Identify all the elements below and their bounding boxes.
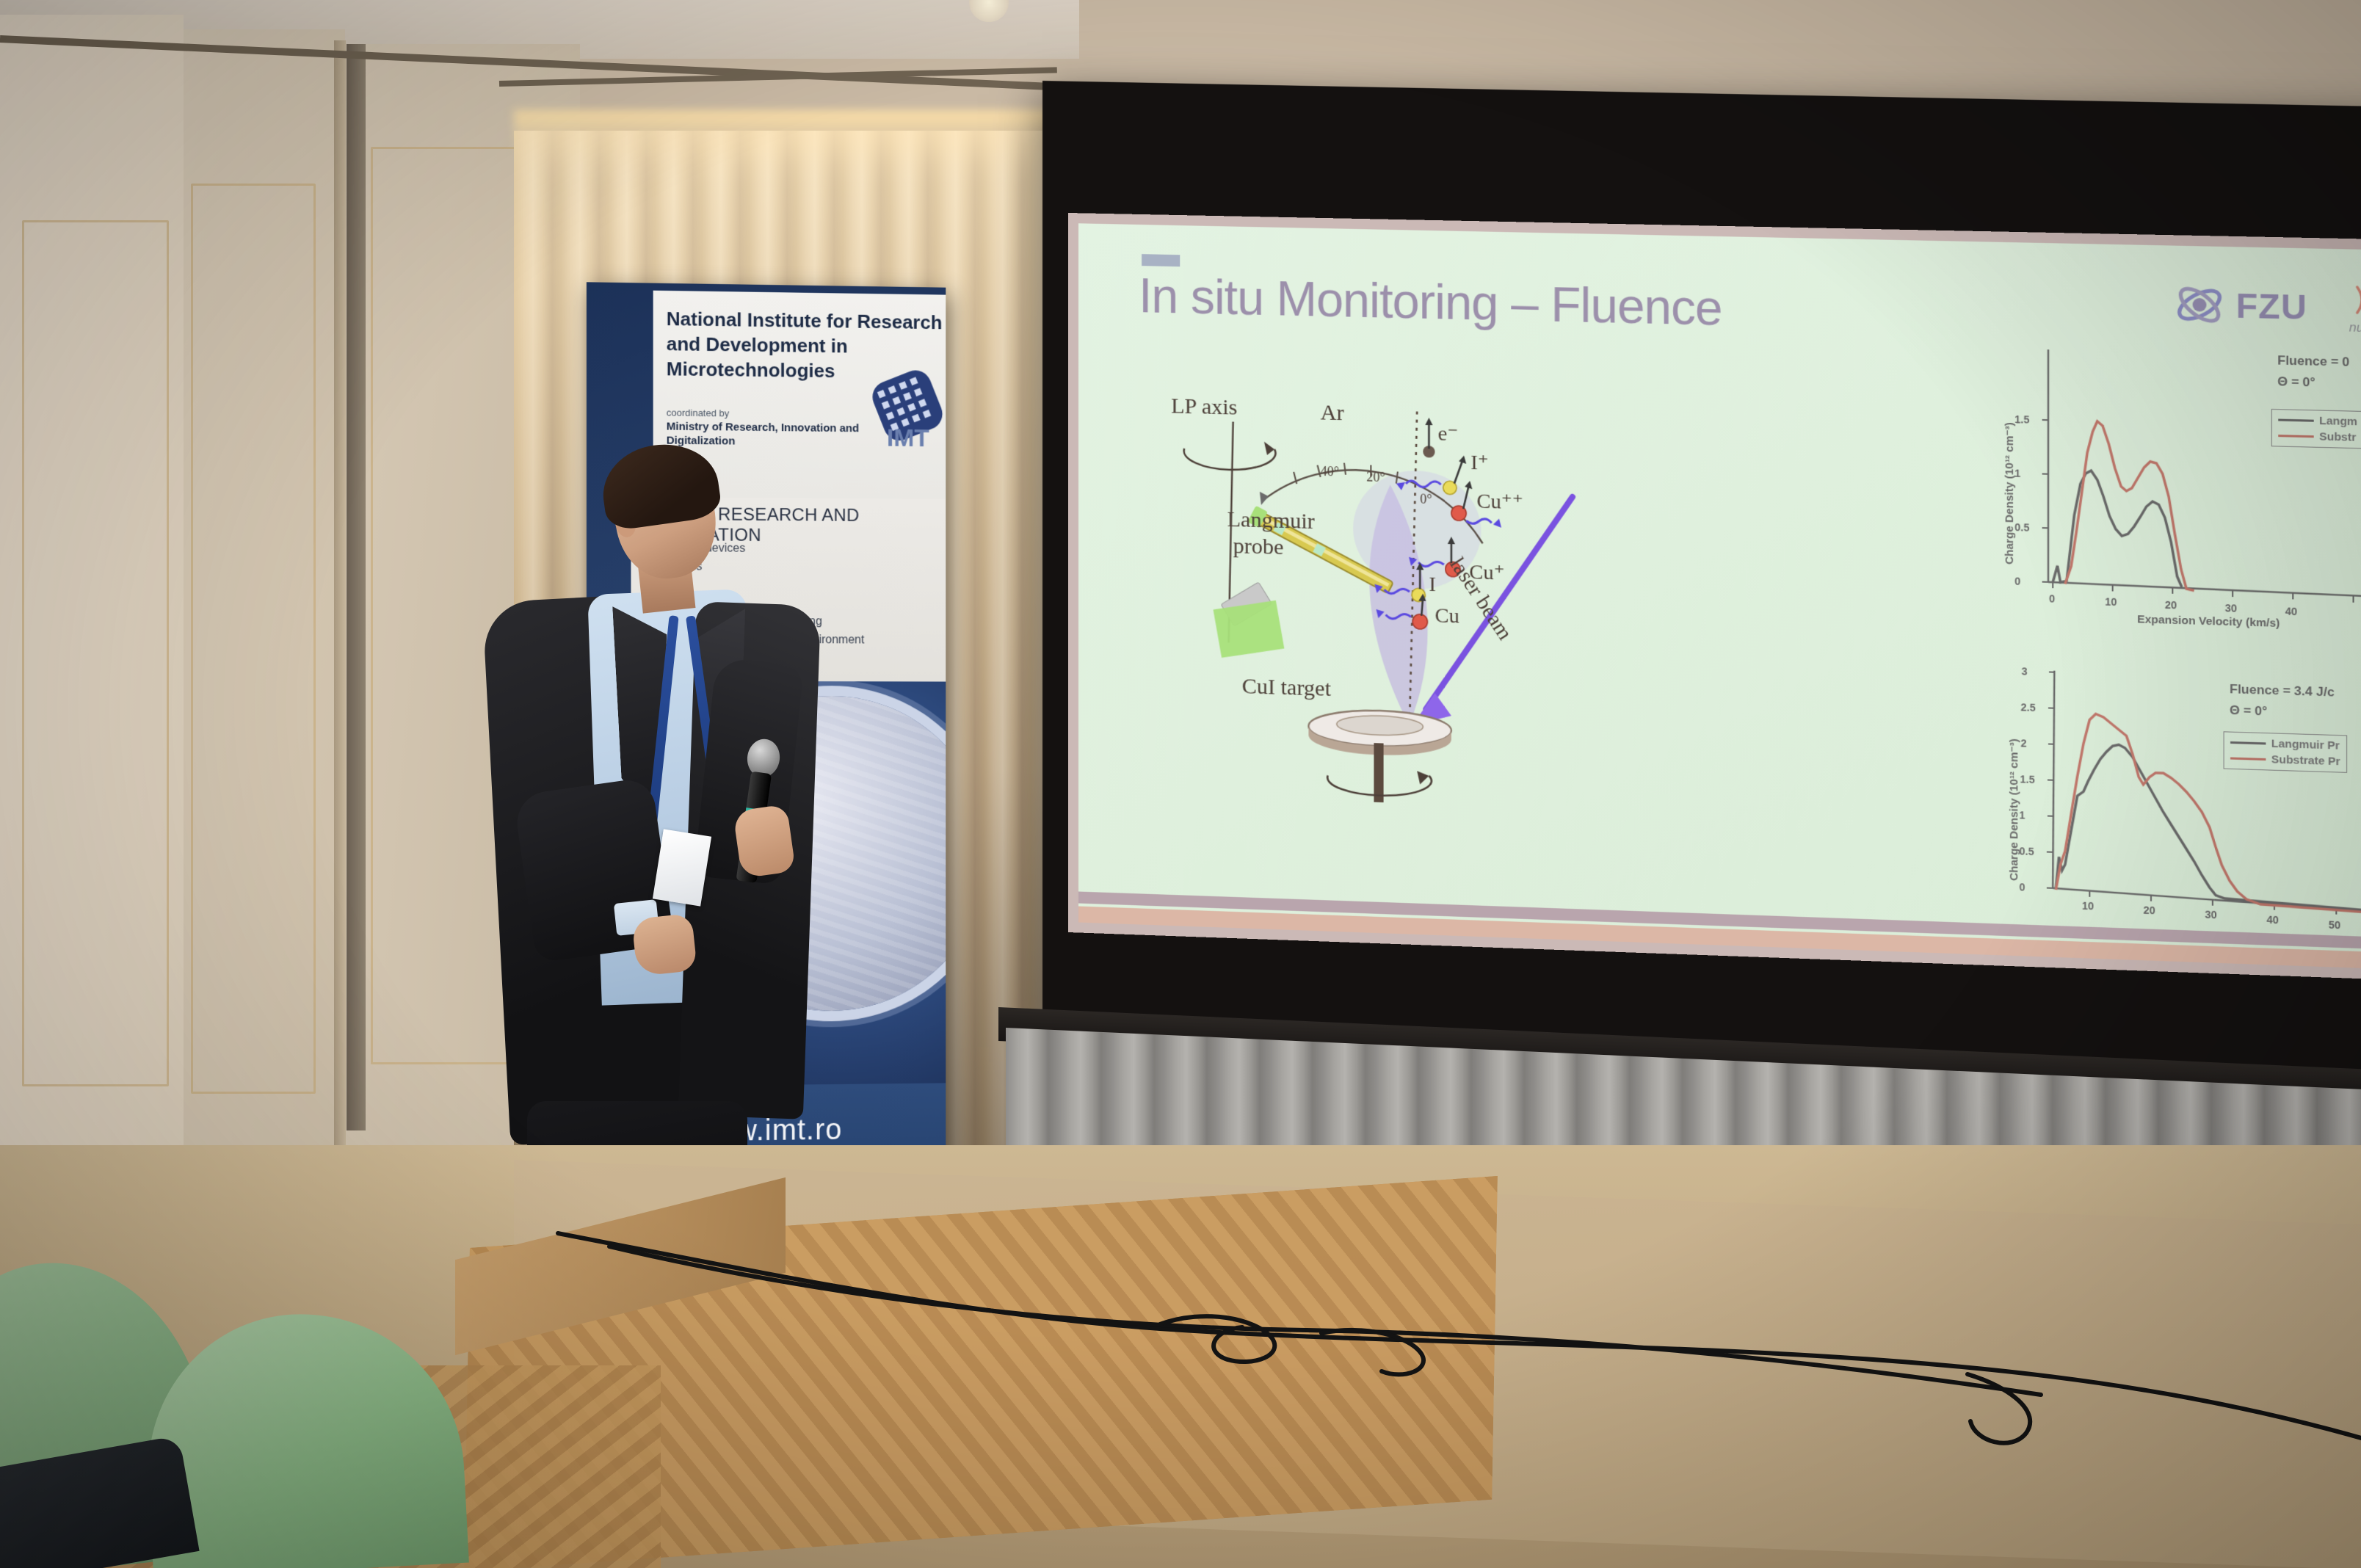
atom-icon: [2175, 282, 2225, 328]
fzu-logo-text: FZU: [2236, 286, 2307, 328]
chart-low-ytick-3: 1.5: [2014, 413, 2029, 426]
legend-label-langmuir: Langm: [2319, 415, 2357, 429]
chart-low-ylabel: Charge Density (10¹² cm⁻³): [2002, 422, 2016, 565]
hand-holding-microphone: [733, 804, 796, 878]
label-angle-20: 20°: [1366, 469, 1385, 485]
wall-recess-shadow: [347, 44, 366, 1130]
chart-high-xtick-4: 50: [2329, 918, 2340, 931]
chart-high-xtick-2: 30: [2205, 908, 2216, 921]
legend-label-langmuir: Langmuir Pr: [2271, 737, 2340, 752]
legend-swatch-langmuir: [2230, 741, 2266, 745]
label-ar: Ar: [1321, 400, 1344, 426]
chart-low-xtick-0: 0: [2049, 592, 2055, 605]
pld-schematic-diagram: LP axis Ar 40° 20° 0° Langmuir probe CuI…: [1130, 368, 1590, 839]
chart-low-ytick-0: 0: [2014, 575, 2020, 587]
chart-low-ytick-1: 0.5: [2014, 521, 2029, 534]
pld-schematic-svg: [1130, 368, 1590, 839]
series-langmuir-probe: [2053, 470, 2182, 587]
banner-coordinated-label: coordinated by: [667, 407, 730, 418]
eli-logo: e nuclear phys: [2349, 281, 2361, 337]
fzu-logo: FZU: [2175, 282, 2307, 330]
chart-high-xtick-3: 40: [2266, 913, 2278, 926]
chart-high-ytick-0: 0: [2019, 881, 2025, 893]
slide-title: In situ Monitoring – Fluence: [1139, 267, 1722, 336]
label-cui-target: CuI target: [1242, 674, 1331, 702]
chart-low-annotation-theta: Θ = 0°: [2277, 374, 2315, 391]
label-langmuir-probe-line2: probe: [1233, 534, 1284, 560]
imt-logo-icon: IMT: [867, 369, 946, 456]
legend-swatch-langmuir: [2278, 419, 2313, 422]
radiating-arcs-icon: [2349, 281, 2361, 320]
legend-swatch-substrate: [2230, 757, 2266, 761]
chart-high-ytick-6: 3: [2022, 665, 2028, 678]
label-angle-40: 40°: [1321, 464, 1339, 480]
label-species-cu-2plus: Cu⁺⁺: [1476, 488, 1523, 515]
presentation-slide: In situ Monitoring – Fluence FZU: [1078, 223, 2361, 969]
label-angle-0: 0°: [1420, 491, 1432, 507]
label-species-i-plus: I⁺: [1470, 450, 1489, 476]
chart-high-ytick-3: 1.5: [2020, 773, 2034, 785]
chart-low-legend-item-langmuir: Langm: [2278, 413, 2357, 428]
chart-low-legend-item-substrate: Substr: [2278, 429, 2357, 444]
chart-low-xtick-2: 20: [2165, 599, 2177, 611]
chart-fluence-low: Charge Density (10¹² cm⁻³) Expansion Vel…: [1976, 339, 2361, 651]
chart-low-ytick-2: 1: [2014, 467, 2020, 479]
legend-label-substrate: Substrate Pr: [2271, 753, 2340, 768]
chart-high-ytick-4: 2: [2020, 737, 2026, 749]
probe-collector-plate: [1214, 600, 1285, 658]
door-frame: [334, 40, 346, 1186]
chart-high-xtick-0: 10: [2082, 900, 2094, 912]
imt-logo-text: IMT: [887, 424, 929, 452]
presentation-photo-scene: In situ Monitoring – Fluence FZU: [0, 0, 2361, 1568]
chart-high-legend-item-langmuir: Langmuir Pr: [2230, 736, 2340, 752]
eli-logo-subtitle: nuclear phys: [2349, 320, 2361, 337]
legend-swatch-substrate: [2278, 435, 2313, 438]
chart-high-ytick-2: 1: [2019, 809, 2025, 821]
chart-low-xtick-4: 40: [2285, 605, 2297, 617]
slide-accent-dash-icon: [1142, 254, 1180, 266]
label-lp-axis: LP axis: [1171, 393, 1237, 420]
wall-panel-2: [191, 184, 316, 1094]
floor-cables: [440, 1145, 2361, 1483]
chart-fluence-high: Charge Density (10¹² cm⁻³) Expansion Vel…: [1976, 661, 2361, 960]
label-species-electron: e⁻: [1438, 421, 1459, 446]
label-species-cu: Cu: [1435, 604, 1459, 628]
cui-target: [1308, 708, 1451, 805]
chart-high-ytick-5: 2.5: [2020, 701, 2035, 714]
label-species-i: I: [1429, 573, 1435, 598]
chart-high-xtick-1: 20: [2144, 904, 2155, 916]
label-species-cu-plus: Cu⁺: [1469, 559, 1504, 586]
chart-high-legend-item-substrate: Substrate Pr: [2230, 752, 2340, 768]
chart-high-annotation-fluence: Fluence = 3.4 J/c: [2230, 682, 2335, 700]
wall-panel-1: [22, 220, 169, 1086]
chart-low-xtick-1: 10: [2105, 595, 2117, 608]
projection-screen-bezel: In situ Monitoring – Fluence FZU: [1068, 213, 2361, 980]
chart-high-annotation-theta: Θ = 0°: [2230, 703, 2267, 719]
legend-label-substrate: Substr: [2319, 430, 2356, 444]
chart-high-legend: Langmuir Pr Substrate Pr: [2224, 731, 2348, 773]
chart-high-ytick-1: 0.5: [2019, 845, 2034, 857]
label-langmuir-probe-line1: Langmuir: [1227, 507, 1315, 534]
chart-low-xtick-3: 30: [2225, 602, 2237, 614]
chart-low-annotation-fluence: Fluence = 0: [2277, 353, 2349, 370]
slide-logo-row: FZU e: [2175, 277, 2361, 337]
chart-low-legend: Langm Substr: [2271, 409, 2361, 449]
